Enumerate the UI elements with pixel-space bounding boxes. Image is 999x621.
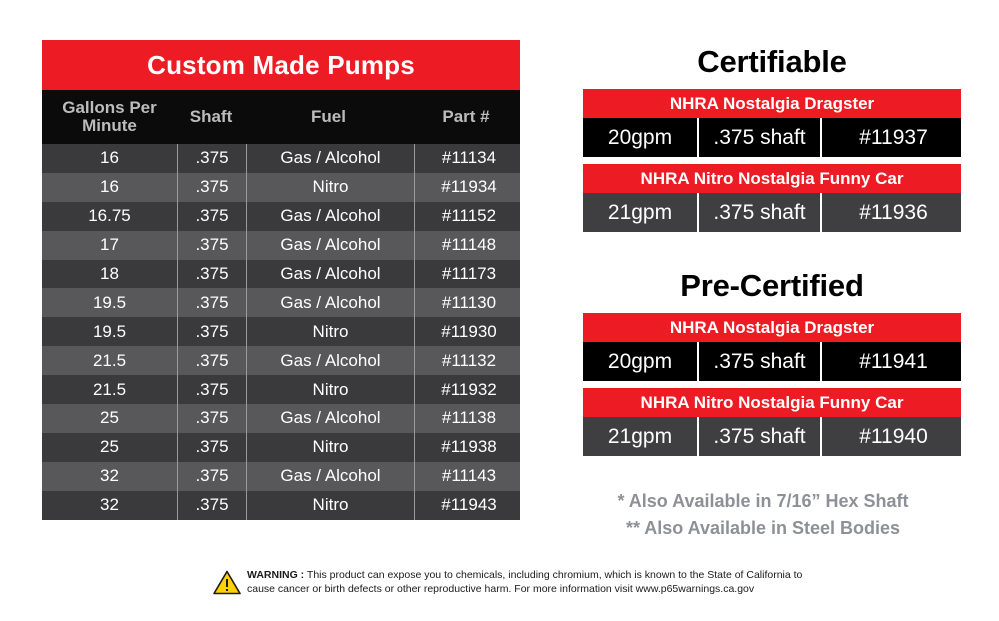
cell-fuel: Gas / Alcohol xyxy=(246,288,414,317)
cell-gallons-per-minute: 16 xyxy=(42,144,177,173)
cell-shaft: .375 xyxy=(177,173,246,202)
cell-gallons-per-minute: 19.5 xyxy=(42,317,177,346)
cell-fuel: Gas / Alcohol xyxy=(246,462,414,491)
cell-part-number: #11941 xyxy=(820,342,965,381)
table-row: 25.375Nitro#11938 xyxy=(42,433,520,462)
cell-shaft: .375 shaft xyxy=(697,342,820,381)
cell-gallons-per-minute: 16 xyxy=(42,173,177,202)
table-row: 16.375Nitro#11934 xyxy=(42,173,520,202)
cell-part-number: #11938 xyxy=(414,433,523,462)
cell-fuel: Nitro xyxy=(246,173,414,202)
category-header: NHRA Nostalgia Dragster xyxy=(583,313,961,342)
cell-part-number: #11173 xyxy=(414,260,523,289)
cell-part-number: #11134 xyxy=(414,144,523,173)
prop65-warning-text: WARNING : This product can expose you to… xyxy=(247,569,813,597)
cell-gallons-per-minute: 19.5 xyxy=(42,288,177,317)
cell-shaft: .375 xyxy=(177,433,246,462)
cell-gallons-per-minute: 21.5 xyxy=(42,346,177,375)
cell-fuel: Gas / Alcohol xyxy=(246,202,414,231)
cell-shaft: .375 xyxy=(177,144,246,173)
cell-part-number: #11940 xyxy=(820,417,965,456)
cell-shaft: .375 xyxy=(177,346,246,375)
cell-fuel: Gas / Alcohol xyxy=(246,404,414,433)
pumps-table-header-row: Gallons Per Minute Shaft Fuel Part # xyxy=(42,90,520,144)
table-row: 21.5.375Gas / Alcohol#11132 xyxy=(42,346,520,375)
table-row: 25.375Gas / Alcohol#11138 xyxy=(42,404,520,433)
column-header-part-number: Part # xyxy=(412,90,520,144)
cell-shaft: .375 shaft xyxy=(697,417,820,456)
cell-gallons-per-minute: 16.75 xyxy=(42,202,177,231)
cell-part-number: #11130 xyxy=(414,288,523,317)
table-row: 16.375Gas / Alcohol#11134 xyxy=(42,144,520,173)
pumps-table-body: 16.375Gas / Alcohol#1113416.375Nitro#119… xyxy=(42,144,520,520)
category-spec-row: 20gpm.375 shaft#11937 xyxy=(583,118,961,157)
cell-fuel: Nitro xyxy=(246,375,414,404)
cell-part-number: #11934 xyxy=(414,173,523,202)
prop65-warning-line2: cause cancer or birth defects or other r… xyxy=(247,583,754,595)
prop65-warning-line1: This product can expose you to chemicals… xyxy=(307,569,803,581)
cell-gallons-per-minute: 21.5 xyxy=(42,375,177,404)
precertified-heading: Pre-Certified xyxy=(583,268,961,304)
cell-gallons-per-minute: 18 xyxy=(42,260,177,289)
cell-shaft: .375 shaft xyxy=(697,118,820,157)
category-spec-row: 21gpm.375 shaft#11940 xyxy=(583,417,961,456)
cell-shaft: .375 xyxy=(177,202,246,231)
cell-fuel: Gas / Alcohol xyxy=(246,144,414,173)
cell-part-number: #11132 xyxy=(414,346,523,375)
pumps-table-title: Custom Made Pumps xyxy=(42,40,520,90)
cell-gallons-per-minute: 32 xyxy=(42,462,177,491)
precertified-category-list: NHRA Nostalgia Dragster20gpm.375 shaft#1… xyxy=(583,313,961,456)
cell-part-number: #11138 xyxy=(414,404,523,433)
cell-gpm: 21gpm xyxy=(583,193,697,232)
category-spec-row: 21gpm.375 shaft#11936 xyxy=(583,193,961,232)
cell-fuel: Nitro xyxy=(246,433,414,462)
table-row: 16.75.375Gas / Alcohol#11152 xyxy=(42,202,520,231)
cell-shaft: .375 xyxy=(177,317,246,346)
cell-gpm: 20gpm xyxy=(583,118,697,157)
cell-shaft: .375 xyxy=(177,375,246,404)
cell-part-number: #11932 xyxy=(414,375,523,404)
cell-fuel: Nitro xyxy=(246,491,414,520)
cell-part-number: #11143 xyxy=(414,462,523,491)
cell-part-number: #11152 xyxy=(414,202,523,231)
cell-gallons-per-minute: 32 xyxy=(42,491,177,520)
cell-gallons-per-minute: 25 xyxy=(42,404,177,433)
footnote-steel-bodies: ** Also Available in Steel Bodies xyxy=(563,515,963,542)
cell-part-number: #11930 xyxy=(414,317,523,346)
table-row: 17.375Gas / Alcohol#11148 xyxy=(42,231,520,260)
warning-triangle-icon xyxy=(213,570,241,600)
cell-fuel: Nitro xyxy=(246,317,414,346)
certifiable-heading: Certifiable xyxy=(583,44,961,80)
category-header: NHRA Nitro Nostalgia Funny Car xyxy=(583,388,961,417)
certifiable-category-list: NHRA Nostalgia Dragster20gpm.375 shaft#1… xyxy=(583,89,961,232)
cell-shaft: .375 xyxy=(177,491,246,520)
cell-part-number: #11937 xyxy=(820,118,965,157)
cell-shaft: .375 xyxy=(177,260,246,289)
cell-fuel: Gas / Alcohol xyxy=(246,260,414,289)
cell-gpm: 21gpm xyxy=(583,417,697,456)
cell-shaft: .375 xyxy=(177,462,246,491)
table-row: 21.5.375Nitro#11932 xyxy=(42,375,520,404)
cell-part-number: #11936 xyxy=(820,193,965,232)
availability-footnotes: * Also Available in 7/16” Hex Shaft ** A… xyxy=(563,488,963,542)
certifiable-panel: Certifiable NHRA Nostalgia Dragster20gpm… xyxy=(583,44,961,239)
cell-part-number: #11148 xyxy=(414,231,523,260)
cell-shaft: .375 xyxy=(177,288,246,317)
cell-part-number: #11943 xyxy=(414,491,523,520)
cell-shaft: .375 shaft xyxy=(697,193,820,232)
table-row: 19.5.375Gas / Alcohol#11130 xyxy=(42,288,520,317)
prop65-warning: WARNING : This product can expose you to… xyxy=(213,569,813,600)
category-header: NHRA Nostalgia Dragster xyxy=(583,89,961,118)
category-spec-row: 20gpm.375 shaft#11941 xyxy=(583,342,961,381)
footnote-hex-shaft: * Also Available in 7/16” Hex Shaft xyxy=(563,488,963,515)
prop65-warning-label: WARNING : xyxy=(247,569,304,581)
cell-gallons-per-minute: 17 xyxy=(42,231,177,260)
table-row: 19.5.375Nitro#11930 xyxy=(42,317,520,346)
custom-made-pumps-table: Custom Made Pumps Gallons Per Minute Sha… xyxy=(42,40,520,520)
table-row: 32.375Nitro#11943 xyxy=(42,491,520,520)
table-row: 18.375Gas / Alcohol#11173 xyxy=(42,260,520,289)
cell-shaft: .375 xyxy=(177,231,246,260)
cell-gpm: 20gpm xyxy=(583,342,697,381)
cell-shaft: .375 xyxy=(177,404,246,433)
column-header-shaft: Shaft xyxy=(177,90,245,144)
cell-gallons-per-minute: 25 xyxy=(42,433,177,462)
precertified-panel: Pre-Certified NHRA Nostalgia Dragster20g… xyxy=(583,268,961,463)
column-header-fuel: Fuel xyxy=(245,90,412,144)
table-row: 32.375Gas / Alcohol#11143 xyxy=(42,462,520,491)
column-header-gallons-per-minute: Gallons Per Minute xyxy=(42,90,177,144)
cell-fuel: Gas / Alcohol xyxy=(246,346,414,375)
category-header: NHRA Nitro Nostalgia Funny Car xyxy=(583,164,961,193)
cell-fuel: Gas / Alcohol xyxy=(246,231,414,260)
